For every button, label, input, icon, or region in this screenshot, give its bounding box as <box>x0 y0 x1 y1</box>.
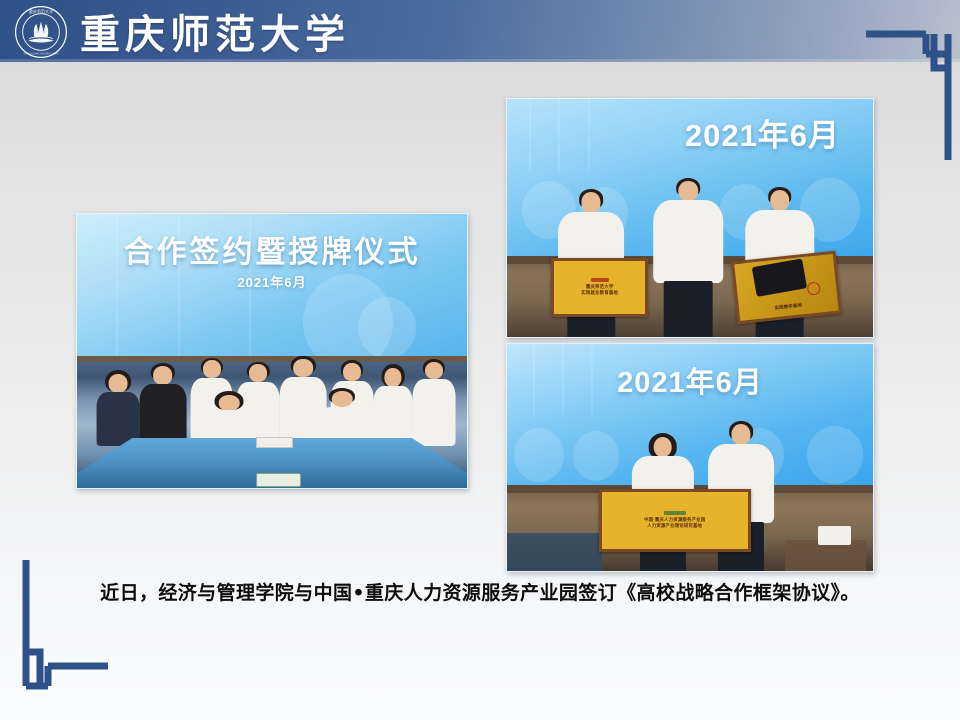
banner-date-text: 2021年6月 <box>77 272 467 291</box>
banner-date-text: 2021年6月 <box>685 110 840 155</box>
plaque-award: 中国·重庆人力资源服务产业园 人力资源产业理论研究基地 <box>599 489 751 552</box>
plaque-line: 人力资源产业理论研究基地 <box>647 523 702 530</box>
photo-signing-ceremony-group: 合作签约暨授牌仪式 2021年6月 <box>76 213 468 489</box>
svg-text:CHONGQING NORMAL UNIV: CHONGQING NORMAL UNIV <box>24 53 59 56</box>
photo-plaque-award-pair: 2021年6月 中国·重庆人力资源服务产业园 人力资源产业理论研究基地 <box>506 343 874 572</box>
slide-root: 重庆师范大学 CHONGQING NORMAL UNIV 重庆师范大学 <box>0 0 960 720</box>
corner-ornament-top-right-icon <box>864 10 960 160</box>
plaque-award: 重庆师范大学 实践就业教育基地 <box>551 258 649 316</box>
plaque-line: 实践教学基地 <box>739 298 838 315</box>
conference-room-area <box>77 356 467 488</box>
photo-plaque-award-men: 2021年6月 重庆师范大学 实践就业教育基地 <box>506 98 874 338</box>
table-name-card <box>256 437 293 448</box>
banner-date-text: 2021年6月 <box>507 359 873 401</box>
banner-title-text: 合作签约暨授牌仪式 <box>77 227 467 271</box>
person-standing <box>97 370 140 446</box>
table-emblem-card <box>256 473 301 487</box>
stage-backdrop-screen: 合作签约暨授牌仪式 2021年6月 <box>77 214 467 356</box>
plaque-seal-icon <box>807 282 821 296</box>
university-name-title: 重庆师范大学 <box>80 2 350 60</box>
person-standing <box>412 359 455 446</box>
plaque-logo-icon <box>591 278 609 282</box>
person-holding-plaque <box>653 178 723 337</box>
plaque-award: 实践教学基地 <box>731 251 842 325</box>
plaque-line: 实践就业教育基地 <box>581 290 618 297</box>
plaque-cover-cloth <box>751 259 807 297</box>
university-crest-icon: 重庆师范大学 CHONGQING NORMAL UNIV <box>14 5 68 59</box>
foreground-chair <box>507 533 602 571</box>
person-standing <box>139 363 186 446</box>
foreground-tissue-box <box>818 526 851 545</box>
svg-text:重庆师范大学: 重庆师范大学 <box>29 8 53 14</box>
header-banner: 重庆师范大学 CHONGQING NORMAL UNIV 重庆师范大学 <box>0 0 960 62</box>
person-standing <box>373 364 412 446</box>
slide-caption: 近日，经济与管理学院与中国•重庆人力资源服务产业园签订《高校战略合作框架协议》。 <box>0 578 960 605</box>
plaque-logo-icon <box>664 511 686 515</box>
